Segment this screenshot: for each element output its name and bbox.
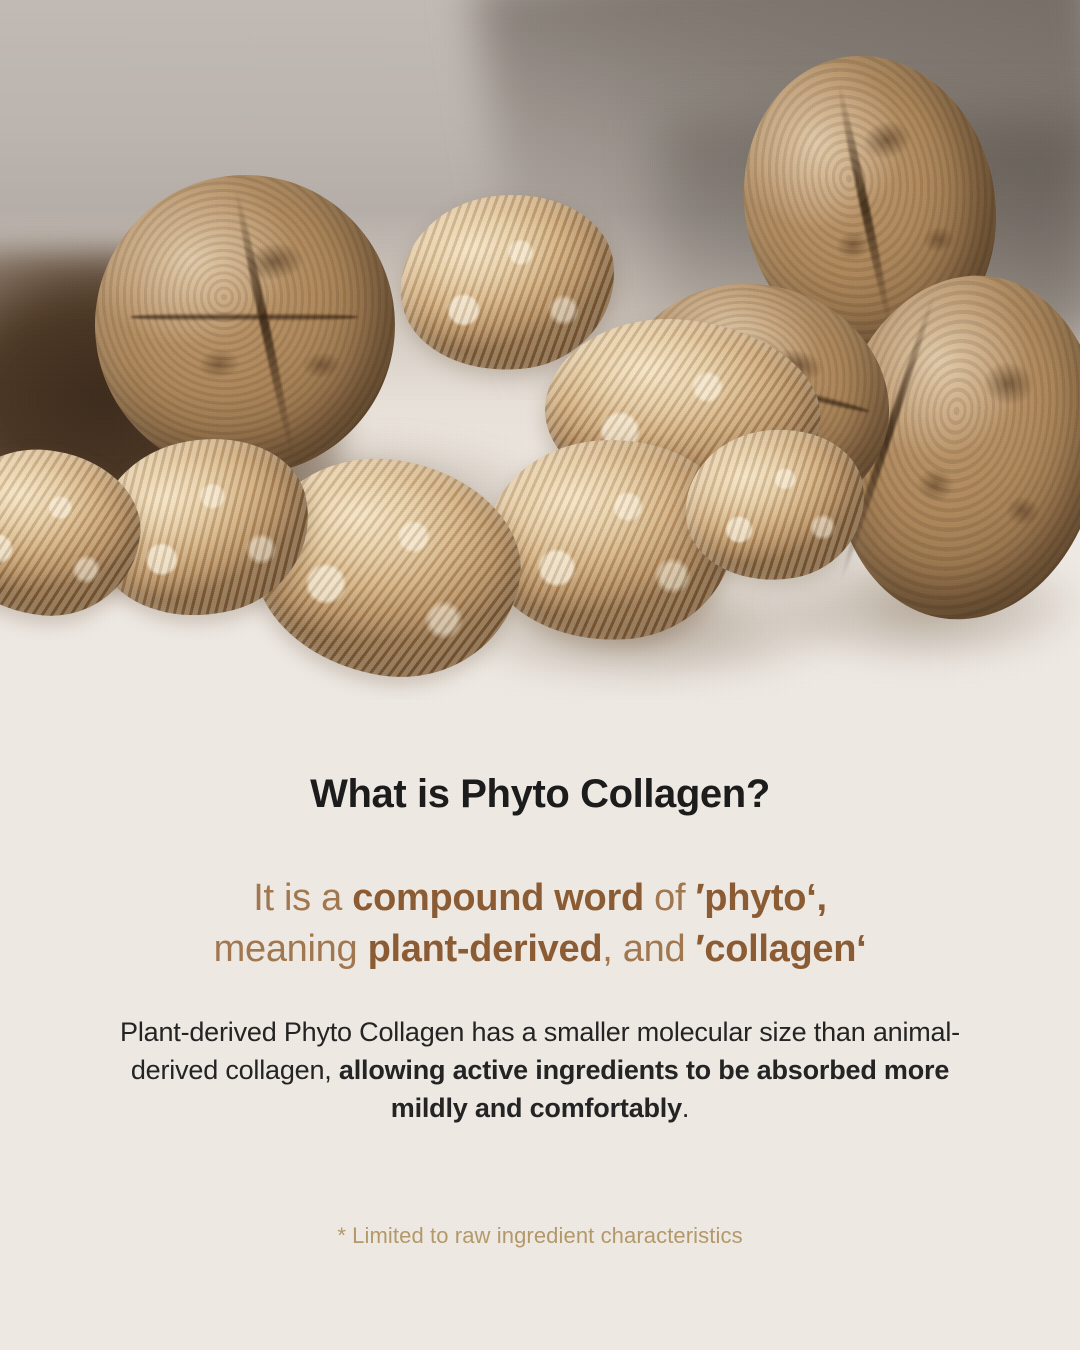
plain-text: It is a: [253, 877, 352, 919]
plain-text: meaning: [214, 928, 368, 970]
subheading-line-1: It is a compound word of ′phyto‘,: [253, 877, 826, 919]
plain-text: of: [644, 877, 696, 919]
subheading: It is a compound word of ′phyto‘, meanin…: [0, 873, 1080, 974]
walnut-seam: [130, 313, 358, 321]
emphasis-text: plant-derived: [368, 928, 603, 970]
emphasis-text: allowing active ingredients to be absorb…: [339, 1055, 949, 1123]
emphasis-text: ′collagen‘: [696, 928, 867, 970]
footnote: * Limited to raw ingredient characterist…: [0, 1223, 1080, 1249]
hero-walnut-photo: [0, 0, 1080, 700]
emphasis-text: ′phyto‘,: [695, 877, 826, 919]
walnut-seam: [231, 187, 297, 459]
page-title: What is Phyto Collagen?: [0, 772, 1080, 817]
plain-text: , and: [602, 928, 695, 970]
emphasis-text: compound word: [352, 877, 644, 919]
body-paragraph: Plant-derived Phyto Collagen has a small…: [90, 1014, 990, 1127]
plain-text: .: [682, 1093, 689, 1123]
walnut-seam: [834, 82, 895, 330]
promo-page: What is Phyto Collagen? It is a compound…: [0, 0, 1080, 1350]
text-content: What is Phyto Collagen? It is a compound…: [0, 700, 1080, 1249]
subheading-line-2: meaning plant-derived, and ′collagen‘: [214, 928, 867, 970]
